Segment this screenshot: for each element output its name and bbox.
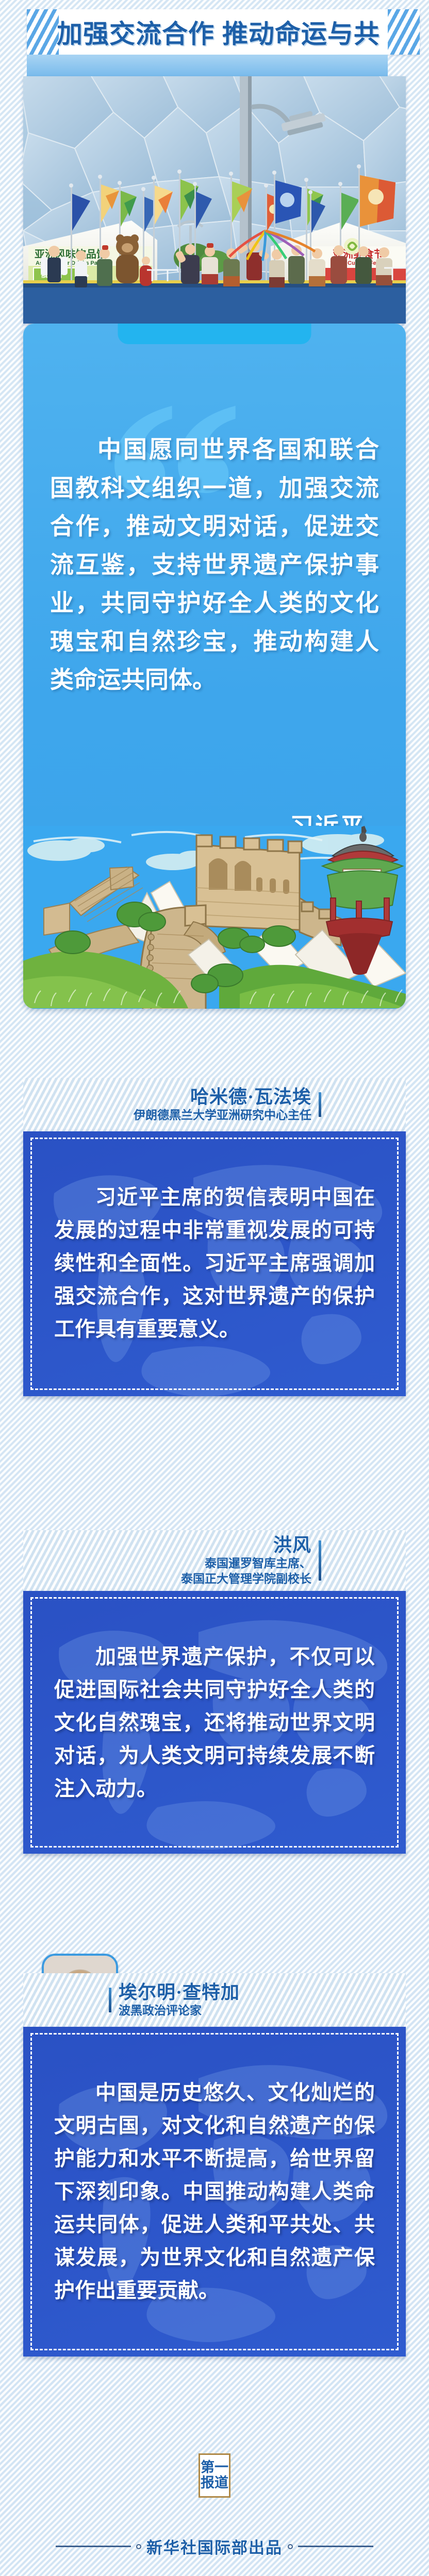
footer-seal: 第一 报道 <box>0 2453 429 2498</box>
credit-rule-left <box>56 2546 131 2547</box>
expert-title: 伊朗德黑兰大学亚洲研究中心主任 <box>134 1108 311 1123</box>
expert-name: 哈米德·瓦法埃 <box>190 1086 311 1108</box>
title-under-bar <box>27 55 388 76</box>
diagonal-stripes-right-icon <box>388 9 420 55</box>
xi-quote-card: “ 中国愿同世界各国和联合国教科文组织一道，加强交流合作，推动文明对话，促进交流… <box>23 324 406 1009</box>
expert-block-1: m ll <box>23 1078 406 1396</box>
expert-name-strip-3: 埃尔明·查特加 波黑政治评论家 <box>23 1973 406 2027</box>
title-box: 加强交流合作 推动命运与共 <box>27 9 420 55</box>
expert-title: 泰国暹罗智库主席、 泰国正大管理学院副校长 <box>181 1556 311 1587</box>
credit-dot-right-icon <box>288 2544 293 2549</box>
expert-name-strip-2: 洪风 泰国暹罗智库主席、 泰国正大管理学院副校长 <box>23 1530 406 1591</box>
expert-quote-text: 习近平主席的贺信表明中国在发展的过程中非常重视发展的可持续性和全面性。习近平主席… <box>23 1131 406 1382</box>
expert-block-2: 洪风 泰国暹罗智库主席、 泰国正大管理学院副校长 <box>23 1530 406 1854</box>
expert-title: 波黑政治评论家 <box>119 2003 202 2019</box>
diyi-baodao-seal: 第一 报道 <box>199 2453 230 2498</box>
credit-rule-right <box>298 2546 373 2547</box>
expert-quote-card-1: 习近平主席的贺信表明中国在发展的过程中非常重视发展的可持续性和全面性。习近平主席… <box>23 1131 406 1396</box>
seal-line-1: 第一 <box>200 2460 229 2475</box>
name-divider <box>319 1540 321 1581</box>
page-title: 加强交流合作 推动命运与共 <box>57 13 380 50</box>
xi-quote-text: 中国愿同世界各国和联合国教科文组织一道，加强交流合作，推动文明对话，促进交流互鉴… <box>50 431 379 700</box>
expert-quote-text: 加强世界遗产保护，不仅可以促进国际社会共同守护好全人类的文化自然瑰宝，还将推动世… <box>23 1591 406 1841</box>
expert-name: 洪风 <box>273 1534 311 1556</box>
credit-text: 新华社国际部出品 <box>146 2535 283 2558</box>
hero-photo: 亚洲风味饮品馆 Asian Flavor Drinks Pavilion 俄罗斯… <box>23 76 406 324</box>
expert-name: 埃尔明·查特加 <box>119 1981 240 2003</box>
expert-quote-card-3: 中国是历史悠久、文化灿烂的文明古国，对文化和自然遗产的保护能力和水平不断提高，给… <box>23 2027 406 2357</box>
seal-line-2: 报道 <box>200 2475 229 2490</box>
expert-quote-card-2: 加强世界遗产保护，不仅可以促进国际社会共同守护好全人类的文化自然瑰宝，还将推动世… <box>23 1591 406 1854</box>
credit-dot-left-icon <box>136 2544 141 2549</box>
diagonal-stripes-left-icon <box>27 9 59 55</box>
name-divider <box>319 1092 321 1117</box>
infographic-page: 加强交流合作 推动命运与共 <box>0 0 429 2576</box>
expert-block-3: 埃尔明·查特加 波黑政治评论家 <box>23 1973 406 2357</box>
great-wall-illustration <box>23 826 406 1009</box>
name-divider <box>109 1988 111 2012</box>
footer-credit: 新华社国际部出品 <box>0 2535 429 2558</box>
expert-quote-text: 中国是历史悠久、文化灿烂的文明古国，对文化和自然遗产的保护能力和水平不断提高，给… <box>23 2027 406 2343</box>
card-top-tab <box>118 324 311 344</box>
expert-name-strip-1: 哈米德·瓦法埃 伊朗德黑兰大学亚洲研究中心主任 <box>23 1078 406 1131</box>
